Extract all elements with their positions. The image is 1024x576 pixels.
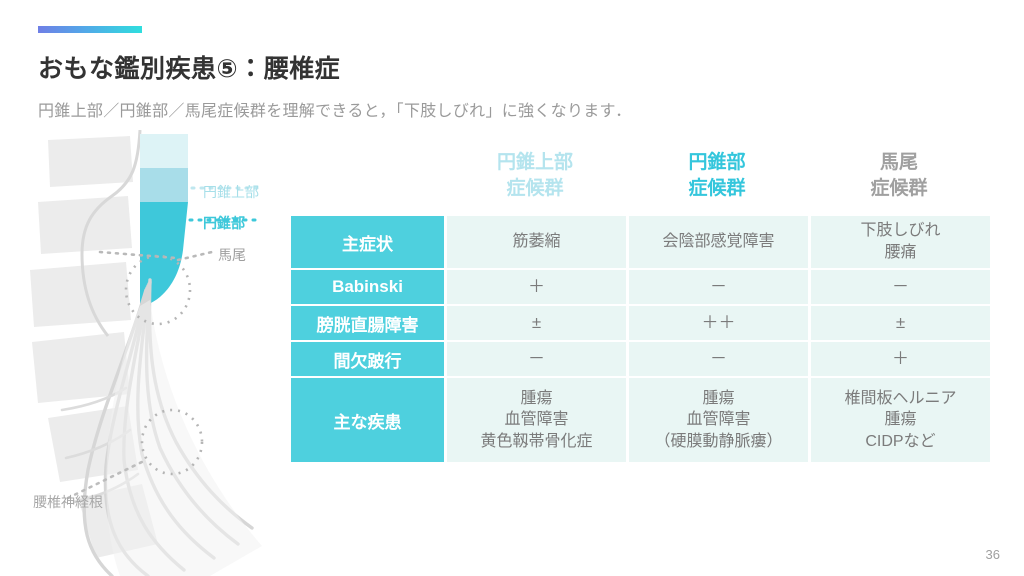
diagram-label-conus: 円錐部 xyxy=(203,213,245,233)
column-header-line2: 症候群 xyxy=(808,176,990,202)
row-label-bladder-bowel-dysfunction: 膀胱直腸障害 xyxy=(291,306,444,342)
cell-claudication-cauda-equina: ＋ xyxy=(808,342,990,378)
cell-main-symptom-cauda-equina: 下肢しびれ 腰痛 xyxy=(808,216,990,270)
column-header-conus-syndrome: 円錐部 症候群 xyxy=(626,148,808,214)
cell-line: 腫瘍 xyxy=(447,388,626,410)
cell-line: 下肢しびれ xyxy=(811,220,990,242)
cell-line: 血管障害 xyxy=(629,409,808,431)
table-column-headers: 円錐上部 症候群 円錐部 症候群 馬尾 症候群 xyxy=(291,148,990,214)
cell-line: 筋萎縮 xyxy=(447,231,626,253)
column-header-line1: 円錐上部 xyxy=(444,150,626,176)
table-row: 主な疾患 腫瘍 血管障害 黄色靱帯骨化症 腫瘍 血管障害 （硬膜動静脈瘻） 椎間… xyxy=(291,378,990,462)
conus-medullaris xyxy=(140,134,188,306)
cell-line: 血管障害 xyxy=(447,409,626,431)
column-header-line1: 円錐部 xyxy=(626,150,808,176)
page-subtitle: 円錐上部／円錐部／馬尾症候群を理解できると，「下肢しびれ」に強くなります． xyxy=(38,97,632,121)
cell-diseases-conus-upper: 腫瘍 血管障害 黄色靱帯骨化症 xyxy=(444,378,626,462)
cell-babinski-conus-upper: ＋ xyxy=(444,270,626,306)
page-number: 36 xyxy=(986,547,1000,562)
row-label-babinski: Babinski xyxy=(291,270,444,306)
cell-line: CIDPなど xyxy=(811,431,990,453)
row-label-main-symptom: 主症状 xyxy=(291,216,444,270)
page-title: おもな鑑別疾患⑤：腰椎症 xyxy=(38,49,340,85)
cell-main-symptom-conus: 会陰部感覚障害 xyxy=(626,216,808,270)
row-label-intermittent-claudication: 間欠跛行 xyxy=(291,342,444,378)
cell-bladder-cauda-equina: ± xyxy=(808,306,990,342)
column-header-line1: 馬尾 xyxy=(808,150,990,176)
cell-line: 腫瘍 xyxy=(811,409,990,431)
cell-line: 会陰部感覚障害 xyxy=(629,231,808,253)
cell-line: 腰痛 xyxy=(811,242,990,264)
diagram-label-conus-upper: 円錐上部 xyxy=(203,182,259,202)
cell-main-symptom-conus-upper: 筋萎縮 xyxy=(444,216,626,270)
cell-babinski-conus: － xyxy=(626,270,808,306)
table-row: 間欠跛行 － － ＋ xyxy=(291,342,990,378)
row-label-main-diseases: 主な疾患 xyxy=(291,378,444,462)
cell-line: 黄色靱帯骨化症 xyxy=(447,431,626,453)
cell-line: （硬膜動静脈瘻） xyxy=(629,431,808,453)
cell-line: 腫瘍 xyxy=(629,388,808,410)
column-header-cauda-equina-syndrome: 馬尾 症候群 xyxy=(808,148,990,214)
cell-claudication-conus-upper: － xyxy=(444,342,626,378)
cell-bladder-conus-upper: ± xyxy=(444,306,626,342)
differential-diagnosis-table: 主症状 筋萎縮 会陰部感覚障害 下肢しびれ 腰痛 Babinski ＋ － － … xyxy=(291,216,990,462)
accent-bar xyxy=(38,26,142,33)
table-row: Babinski ＋ － － xyxy=(291,270,990,306)
table-row: 膀胱直腸障害 ± ＋＋ ± xyxy=(291,306,990,342)
column-header-spacer xyxy=(291,148,444,214)
diagram-label-lumbar-nerve-root: 腰椎神経根 xyxy=(33,492,103,512)
cell-bladder-conus: ＋＋ xyxy=(626,306,808,342)
cell-claudication-conus: － xyxy=(626,342,808,378)
cell-line: 椎間板ヘルニア xyxy=(811,388,990,410)
illustration-shadow xyxy=(106,300,262,576)
column-header-line2: 症候群 xyxy=(444,176,626,202)
cell-diseases-conus: 腫瘍 血管障害 （硬膜動静脈瘻） xyxy=(626,378,808,462)
table-row: 主症状 筋萎縮 会陰部感覚障害 下肢しびれ 腰痛 xyxy=(291,216,990,270)
column-header-line2: 症候群 xyxy=(626,176,808,202)
column-header-conus-upper-syndrome: 円錐上部 症候群 xyxy=(444,148,626,214)
cell-diseases-cauda-equina: 椎間板ヘルニア 腫瘍 CIDPなど xyxy=(808,378,990,462)
diagram-label-cauda-equina: 馬尾 xyxy=(218,245,246,265)
cell-babinski-cauda-equina: － xyxy=(808,270,990,306)
